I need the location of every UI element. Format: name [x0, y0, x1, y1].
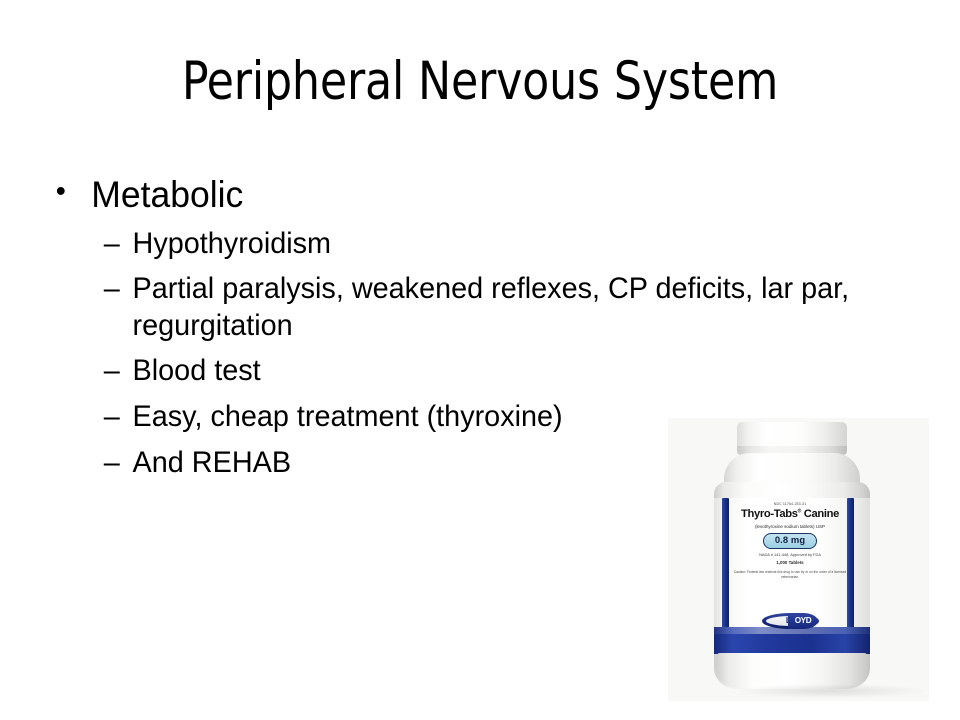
label-nada-approval: NADA # 141-448, Approved by FDA: [732, 553, 848, 558]
slide: Peripheral Nervous System • Metabolic – …: [0, 0, 960, 720]
bullet-level2-hypothyroidism: – Hypothyroidism: [50, 226, 895, 263]
bottle-shadow: [736, 684, 926, 698]
label-dose-badge: 0.8 mg: [763, 533, 817, 548]
bullet-dash-icon: –: [104, 226, 120, 263]
product-photo-thyro-tabs: NDC 11764-253-31 Thyro-Tabs® Canine (lev…: [668, 418, 929, 701]
label-brand-main: Thyro-Tabs: [741, 508, 798, 520]
bullet-dash-icon: –: [104, 353, 120, 390]
bullet-level2-label: Hypothyroidism: [133, 226, 895, 263]
lloyd-logo: LL OYD: [762, 613, 819, 629]
page-title: Peripheral Nervous System: [34, 52, 927, 111]
label-dose-row: 0.8 mg: [732, 533, 848, 548]
bullet-dash-icon: –: [104, 399, 120, 436]
bullet-dash-icon: –: [104, 445, 120, 482]
pill-bottle-illustration: NDC 11764-253-31 Thyro-Tabs® Canine (lev…: [706, 422, 878, 694]
label-tablet-count: 1,000 Tablets: [732, 560, 848, 565]
lloyd-logo-inner: LL OYD: [766, 616, 816, 626]
lloyd-logo-text-right: OYD: [794, 617, 812, 625]
bullet-level2-signs: – Partial paralysis, weakened reflexes, …: [50, 271, 895, 344]
bullet-level2-blood-test: – Blood test: [50, 353, 895, 390]
bullet-level1-metabolic: • Metabolic: [50, 173, 895, 217]
label-stripe-right: [847, 498, 854, 637]
label-caution-text: Caution: Federal law restricts this drug…: [732, 570, 848, 580]
label-generic-name: (levothyroxine sodium tablets) USP: [732, 524, 848, 530]
bullet-level2-label: Blood test: [133, 353, 895, 390]
label-stripe-left: [722, 498, 729, 637]
bullet-dot-icon: •: [56, 172, 66, 213]
bullet-level1-label: Metabolic: [91, 174, 243, 215]
bottle-label-text: NDC 11764-253-31 Thyro-Tabs® Canine (lev…: [732, 502, 848, 579]
lloyd-logo-patch: OYD: [788, 613, 818, 629]
label-ndc-code: NDC 11764-253-31: [732, 502, 848, 507]
label-brand-name: Thyro-Tabs® Canine: [732, 508, 848, 521]
bullet-level2-label: Partial paralysis, weakened reflexes, CP…: [133, 271, 895, 344]
label-brand-species: Canine: [801, 508, 839, 520]
bullet-dash-icon: –: [104, 271, 120, 308]
